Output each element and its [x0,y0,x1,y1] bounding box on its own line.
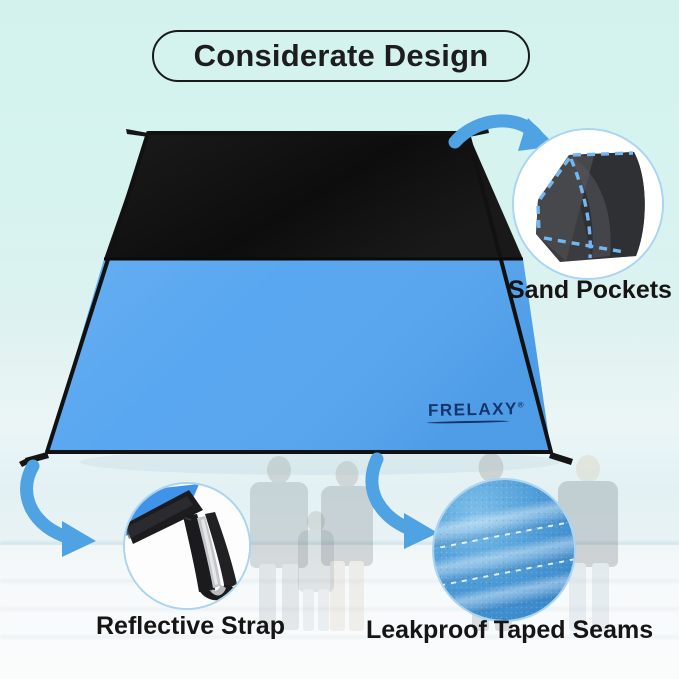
page-title: Considerate Design [194,38,489,74]
taped-seams-label: Leakproof Taped Seams [366,616,653,645]
reflective-strap-circle[interactable] [123,482,251,610]
mat-blue-panel [47,259,551,452]
reflective-strap-illustration [125,484,251,610]
sand-pocket-illustration [514,130,664,280]
corner-loop-top-right [468,128,489,137]
brand-trademark: ® [518,400,526,409]
page-title-box: Considerate Design [152,30,530,82]
mat-black-panel [104,133,523,259]
brand-logo: FRELAXY® [428,399,526,421]
taped-seams-circle[interactable] [432,478,576,622]
corner-loop-top-left [126,129,149,137]
sand-pockets-circle[interactable] [512,128,664,280]
person-figure [296,511,336,631]
fabric-texture [434,480,574,620]
sand-pockets-label: Sand Pockets [508,276,672,305]
brand-name: FRELAXY [428,399,518,420]
infographic-canvas: Considerate Design [0,0,679,679]
reflective-strap-label: Reflective Strap [96,612,285,641]
